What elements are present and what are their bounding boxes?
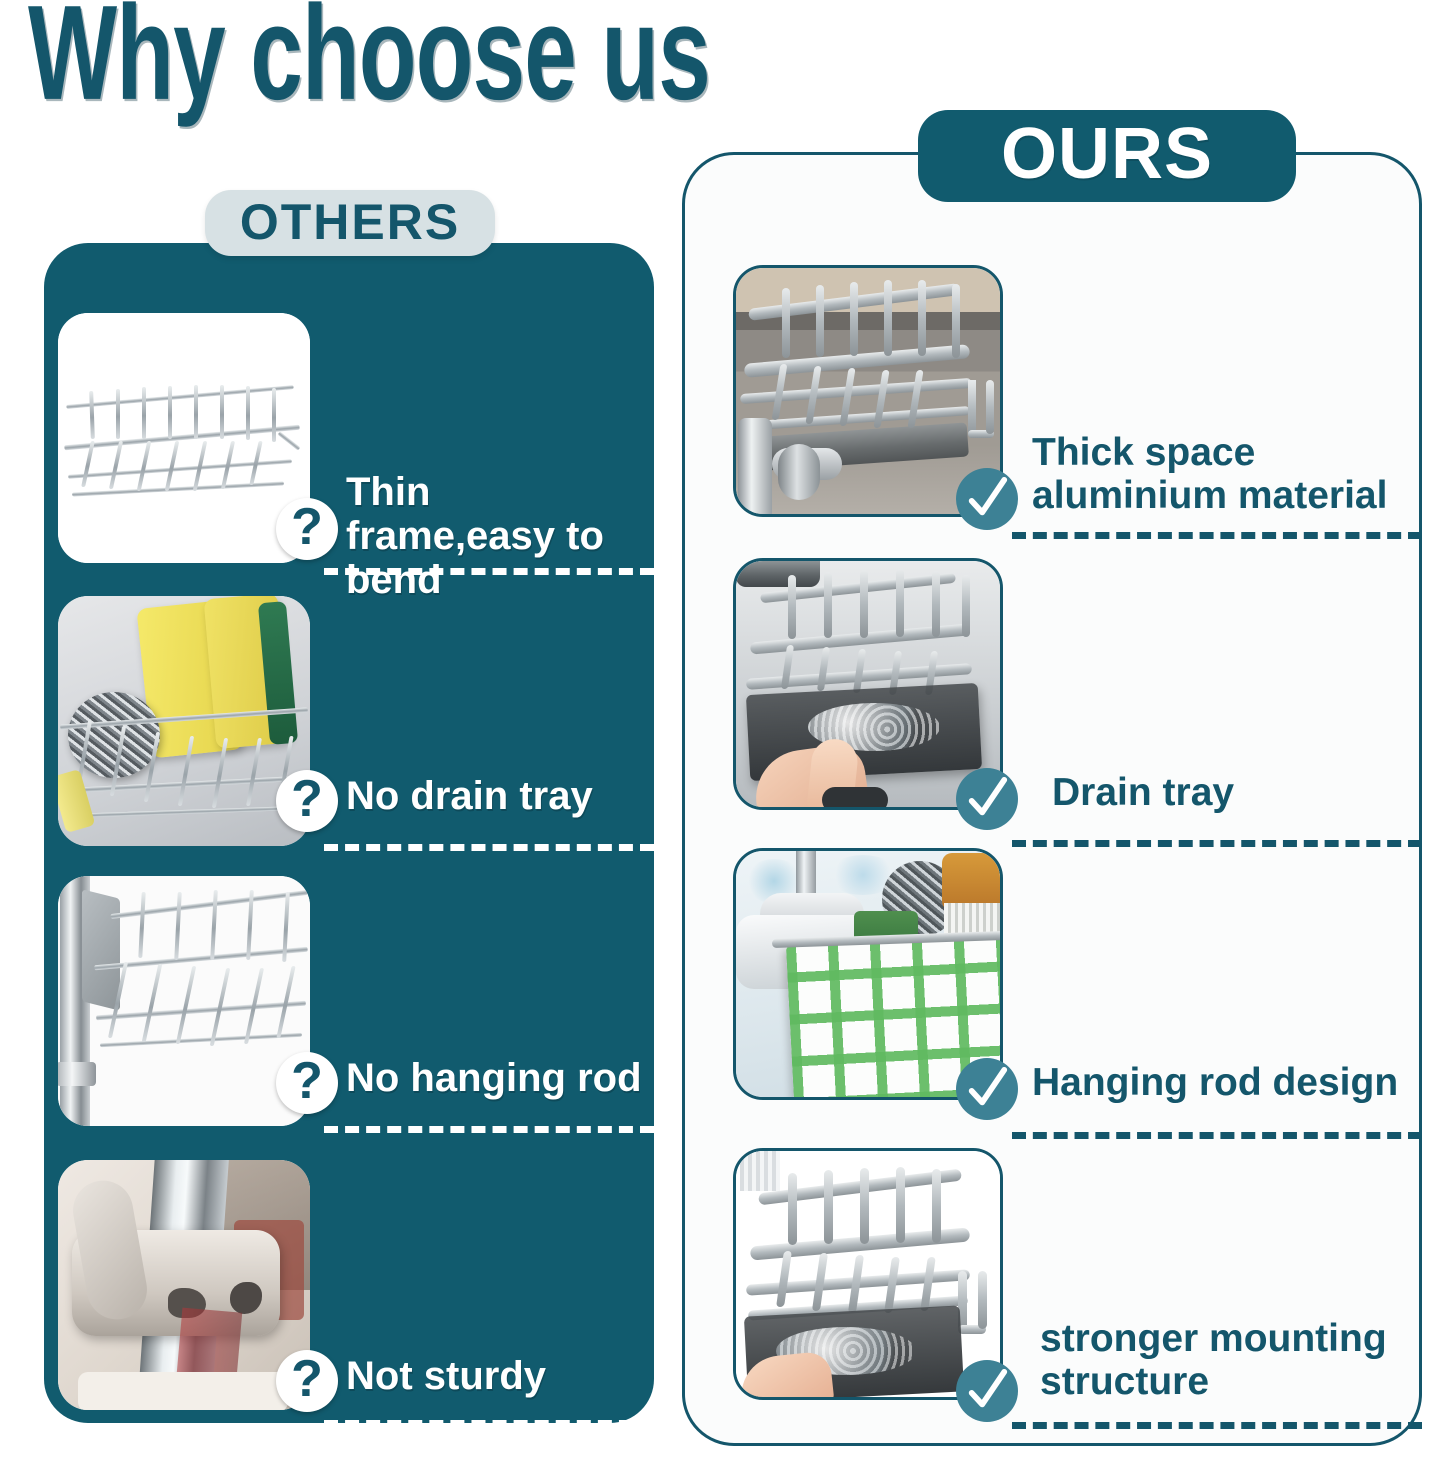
others-row-1: ? Thin frame,easy to bend [272,470,654,580]
check-mark-icon [956,1360,1018,1422]
divider [1012,840,1422,847]
ours-row-1: Thick space aluminium material [952,428,1422,548]
question-mark-icon: ? [276,1052,338,1114]
divider [1012,532,1422,539]
others-badge: OTHERS [205,190,495,256]
divider [324,568,654,575]
ours-row-3: Hanging rod design [952,1052,1422,1152]
ours-row-2: Drain tray [952,760,1422,860]
ours-label-2: Drain tray [1052,772,1422,815]
ours-label-4: stronger mounting structure [1040,1318,1424,1404]
ours-row-4: stronger mounting structure [952,1312,1422,1442]
others-row-3: ? No hanging rod [272,1048,654,1148]
others-label-1: Thin frame,easy to bend [346,470,646,602]
check-mark-icon [956,768,1018,830]
page-title: Why choose us [28,0,710,121]
ours-label-3: Hanging rod design [1032,1062,1424,1105]
others-label-3: No hanging rod [346,1056,666,1100]
divider [1012,1132,1422,1139]
others-badge-label: OTHERS [240,197,460,247]
question-mark-icon: ? [276,1350,338,1412]
check-glyph [964,476,1010,522]
infographic-page: Why choose us OTHERS [0,0,1445,1466]
question-mark-icon: ? [276,770,338,832]
check-glyph [964,1066,1010,1112]
others-row-4: ? Not sturdy [272,1346,654,1446]
divider [324,1420,654,1427]
others-label-4: Not sturdy [346,1354,666,1398]
divider [324,1126,654,1133]
check-mark-icon [956,1058,1018,1120]
divider [1012,1422,1422,1429]
check-mark-icon [956,468,1018,530]
check-glyph [964,1368,1010,1414]
question-mark-icon: ? [276,498,338,560]
others-row-2: ? No drain tray [272,766,654,866]
ours-badge: OURS [918,110,1296,202]
ours-label-1: Thick space aluminium material [1032,432,1424,518]
others-label-2: No drain tray [346,774,656,818]
check-glyph [964,776,1010,822]
divider [324,844,654,851]
ours-badge-label: OURS [1001,118,1213,190]
